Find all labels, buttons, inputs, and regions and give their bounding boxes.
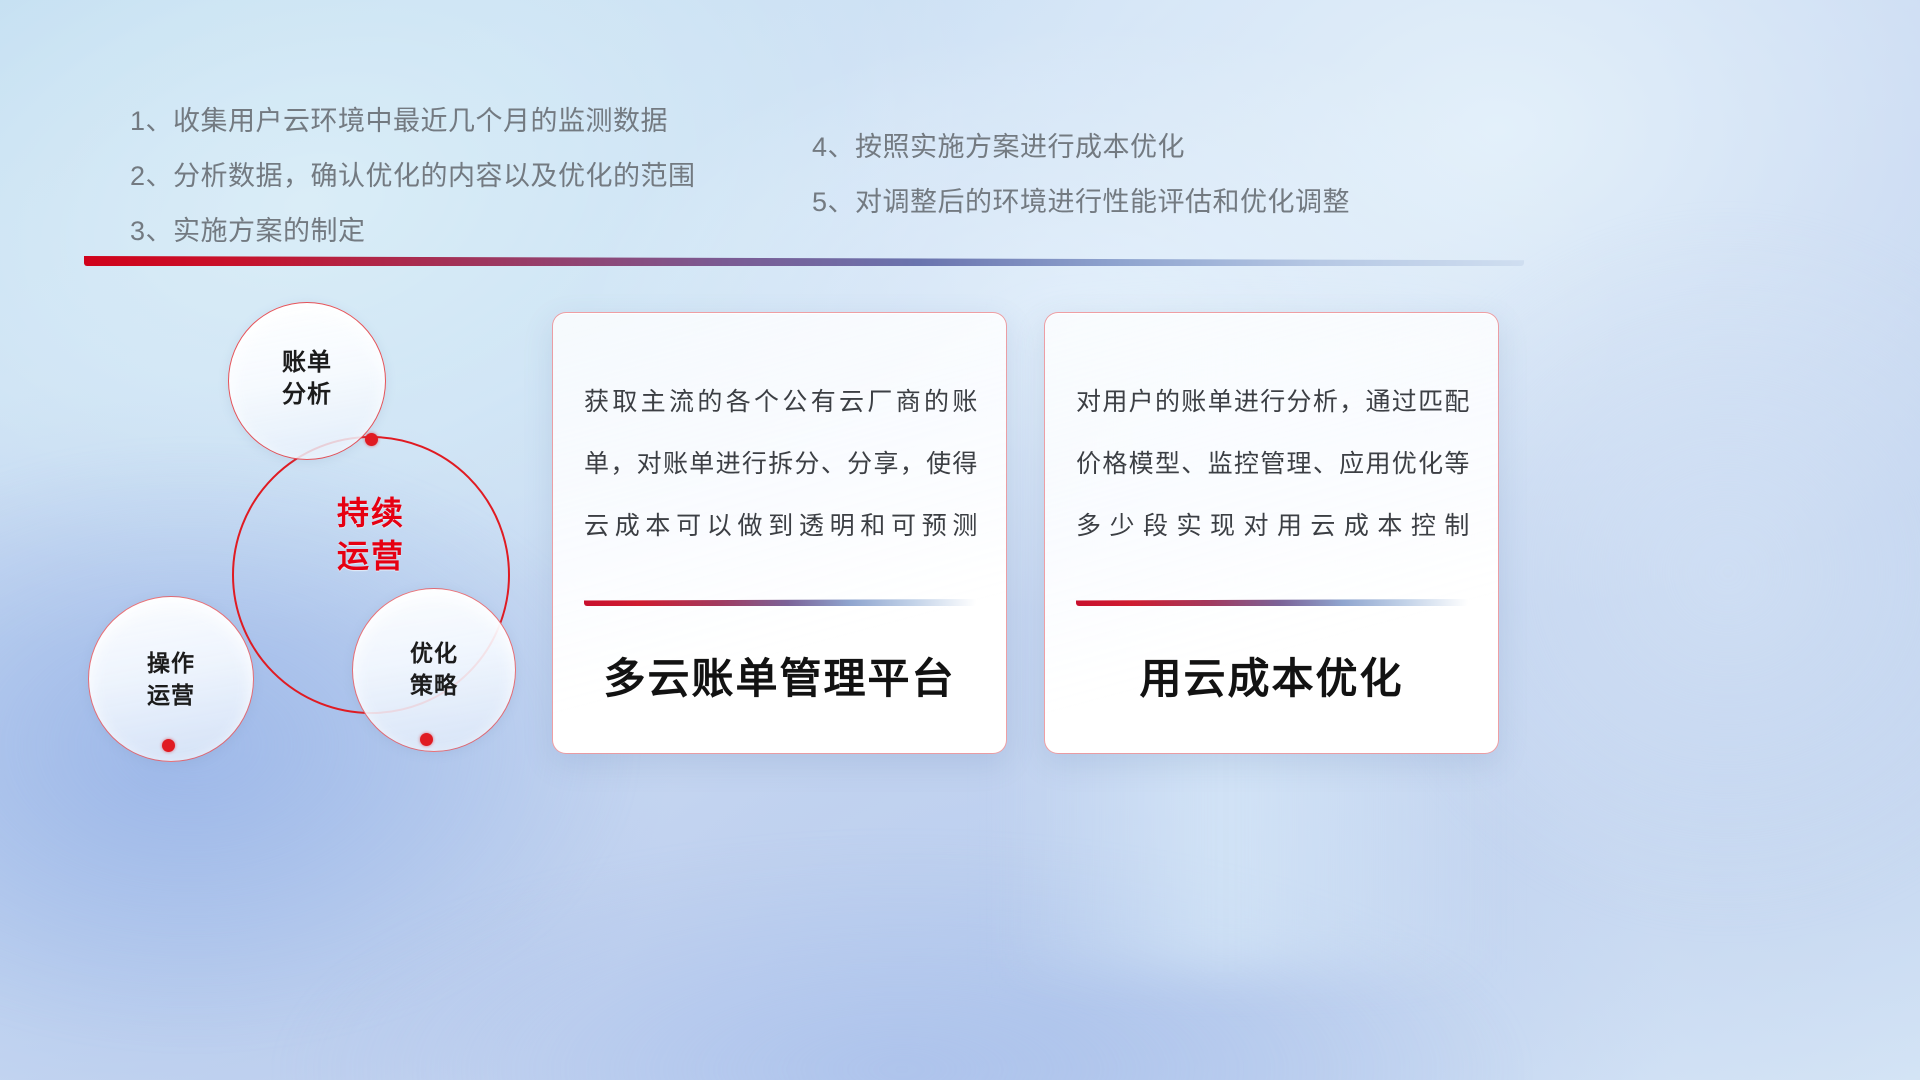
venn-center-label-line1: 持续 bbox=[232, 492, 510, 535]
venn-node-optimization-strategy-label: 优化 策略 bbox=[353, 637, 515, 701]
process-steps-left-column: 1、收集用户云环境中最近几个月的监测数据 2、分析数据，确认优化的内容以及优化的… bbox=[130, 94, 696, 259]
section-divider bbox=[84, 256, 1524, 266]
venn-center-label: 持续 运营 bbox=[232, 492, 510, 578]
feature-card-body: 对用户的账单进行分析，通过匹配价格模型、监控管理、应用优化等多少段实现对用云成本… bbox=[1076, 371, 1470, 557]
venn-center-label-line2: 运营 bbox=[232, 535, 510, 578]
feature-card-body: 获取主流的各个公有云厂商的账单，对账单进行拆分、分享，使得云成本可以做到透明和可… bbox=[584, 371, 978, 557]
feature-card-divider bbox=[584, 599, 976, 606]
process-step-5: 5、对调整后的环境进行性能评估和优化调整 bbox=[812, 175, 1350, 230]
feature-card-cloud-cost-optimization[interactable]: 对用户的账单进行分析，通过匹配价格模型、监控管理、应用优化等多少段实现对用云成本… bbox=[1044, 312, 1499, 754]
venn-node-optimization-strategy[interactable]: 优化 策略 bbox=[352, 588, 516, 752]
venn-connector-dot-bottom-left bbox=[162, 739, 175, 752]
feature-card-multicloud-billing[interactable]: 获取主流的各个公有云厂商的账单，对账单进行拆分、分享，使得云成本可以做到透明和可… bbox=[552, 312, 1007, 754]
venn-node-operations-line1: 操作 bbox=[89, 647, 253, 679]
venn-node-operations-line2: 运营 bbox=[89, 679, 253, 711]
feature-card-title: 多云账单管理平台 bbox=[553, 645, 1006, 706]
venn-connector-dot-top bbox=[365, 433, 378, 446]
feature-card-divider bbox=[1076, 599, 1468, 606]
venn-node-optimization-strategy-line1: 优化 bbox=[353, 637, 515, 669]
process-steps-right-column: 4、按照实施方案进行成本优化 5、对调整后的环境进行性能评估和优化调整 bbox=[812, 120, 1350, 230]
venn-node-bill-analysis-line1: 账单 bbox=[229, 347, 385, 379]
process-step-4: 4、按照实施方案进行成本优化 bbox=[812, 120, 1350, 175]
process-step-1: 1、收集用户云环境中最近几个月的监测数据 bbox=[130, 94, 696, 149]
venn-node-bill-analysis[interactable]: 账单 分析 bbox=[228, 302, 386, 460]
venn-node-bill-analysis-line2: 分析 bbox=[229, 379, 385, 411]
feature-card-title: 用云成本优化 bbox=[1045, 645, 1498, 706]
process-step-2: 2、分析数据，确认优化的内容以及优化的范围 bbox=[130, 149, 696, 204]
venn-connector-dot-bottom-right bbox=[420, 733, 433, 746]
venn-node-optimization-strategy-line2: 策略 bbox=[353, 669, 515, 701]
venn-node-bill-analysis-label: 账单 分析 bbox=[229, 347, 385, 411]
venn-node-operations[interactable]: 操作 运营 bbox=[88, 596, 254, 762]
venn-node-operations-label: 操作 运营 bbox=[89, 647, 253, 711]
process-step-3: 3、实施方案的制定 bbox=[130, 204, 696, 259]
section-divider-bar bbox=[84, 256, 1524, 266]
continuous-operation-diagram: 持续 运营 账单 分析 操作 运营 优化 策略 bbox=[80, 296, 540, 766]
